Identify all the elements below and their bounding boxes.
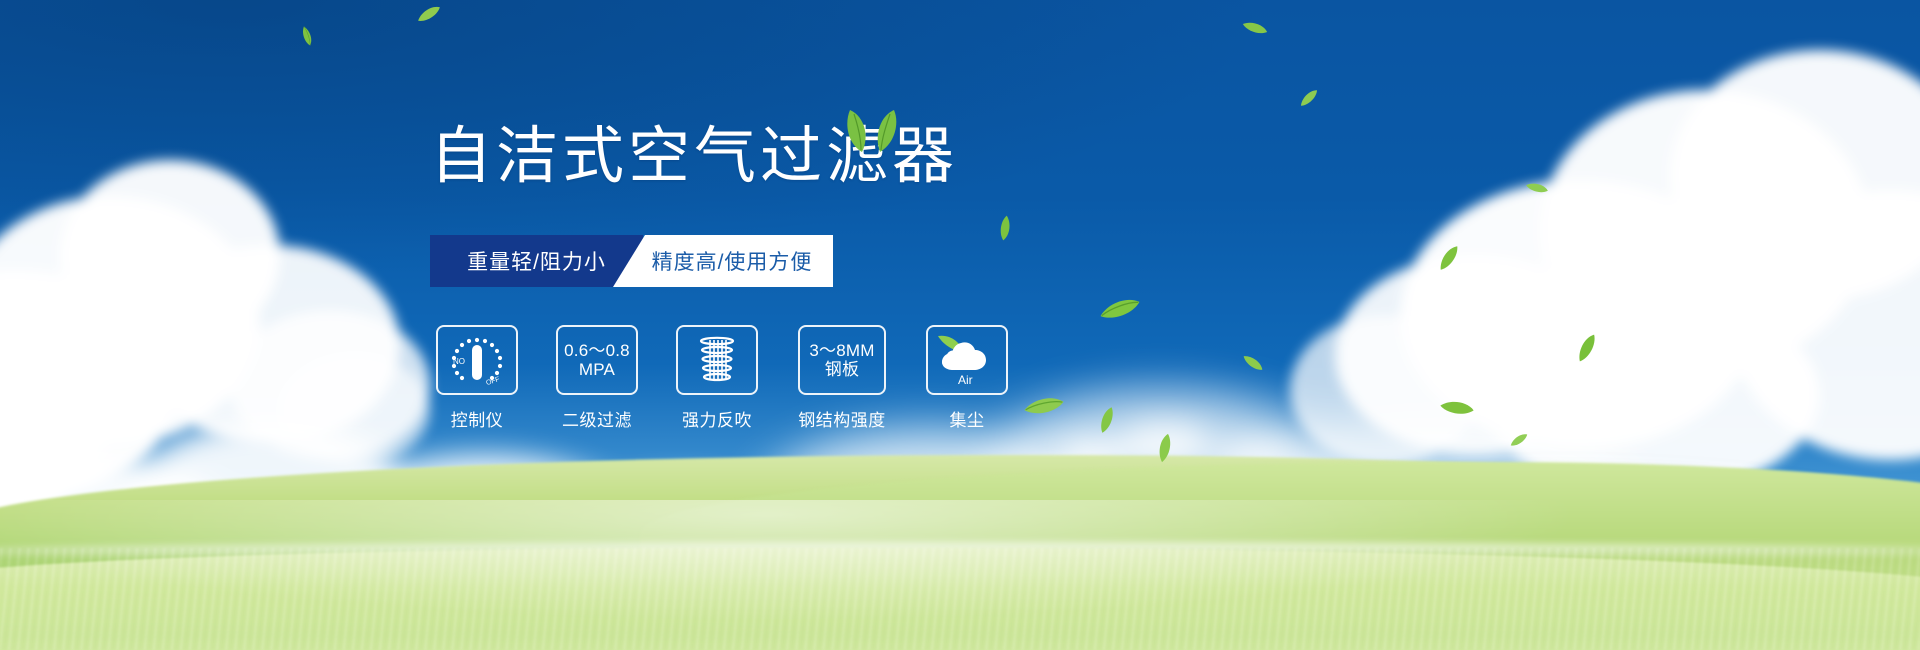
feature-icon-box xyxy=(676,325,758,395)
steel-line-1: 3～8MM xyxy=(809,341,874,360)
feature-caption: 控制仪 xyxy=(451,406,504,431)
feature-caption: 二级过滤 xyxy=(562,406,632,431)
pressure-line-2: MPA xyxy=(564,360,630,379)
feature-caption: 集尘 xyxy=(950,406,985,431)
subtitle-left-label: 重量轻/阻力小 xyxy=(467,246,606,276)
subtitle-left-tab[interactable]: 重量轻/阻力小 xyxy=(430,235,643,287)
feature-caption: 强力反吹 xyxy=(682,406,752,431)
feature-item-controller[interactable]: NO OFF 控制仪 xyxy=(430,325,524,431)
feature-icon-box: 0.6～0.8 MPA xyxy=(556,325,638,395)
air-label: Air xyxy=(958,373,973,387)
product-banner: 自洁式空气过滤器 重量轻/阻力小 精度高/使用方便 xyxy=(0,0,1920,650)
gauge-dial-icon: NO OFF xyxy=(446,332,508,388)
banner-content: 自洁式空气过滤器 重量轻/阻力小 精度高/使用方便 xyxy=(0,0,1920,650)
feature-item-backblow[interactable]: 强力反吹 xyxy=(670,325,764,431)
feature-list: NO OFF 控制仪 0.6～0.8 MPA 二级过滤 xyxy=(430,325,1014,431)
leaf-icon xyxy=(1022,396,1066,421)
subtitle-right-label: 精度高/使用方便 xyxy=(652,246,813,276)
subtitle-right-tab[interactable]: 精度高/使用方便 xyxy=(613,235,833,287)
feature-icon-box: Air xyxy=(926,325,1008,395)
air-cloud-icon: Air xyxy=(934,332,1000,388)
steel-plate-icon: 3～8MM 钢板 xyxy=(809,341,874,379)
feature-caption: 钢结构强度 xyxy=(798,406,886,431)
feature-item-pressure[interactable]: 0.6～0.8 MPA 二级过滤 xyxy=(550,325,644,431)
title-sprout-leaves-icon xyxy=(840,108,902,159)
svg-text:OFF: OFF xyxy=(485,376,500,387)
svg-text:NO: NO xyxy=(453,357,465,366)
feature-item-steel[interactable]: 3～8MM 钢板 钢结构强度 xyxy=(790,325,894,431)
steel-line-2: 钢板 xyxy=(809,360,874,379)
pressure-value-icon: 0.6～0.8 MPA xyxy=(564,341,630,379)
feature-icon-box: 3～8MM 钢板 xyxy=(798,325,886,395)
pressure-line-1: 0.6～0.8 xyxy=(564,341,630,360)
feature-icon-box: NO OFF xyxy=(436,325,518,395)
filter-cartridge-icon xyxy=(691,334,743,386)
feature-item-dust[interactable]: Air 集尘 xyxy=(920,325,1014,431)
